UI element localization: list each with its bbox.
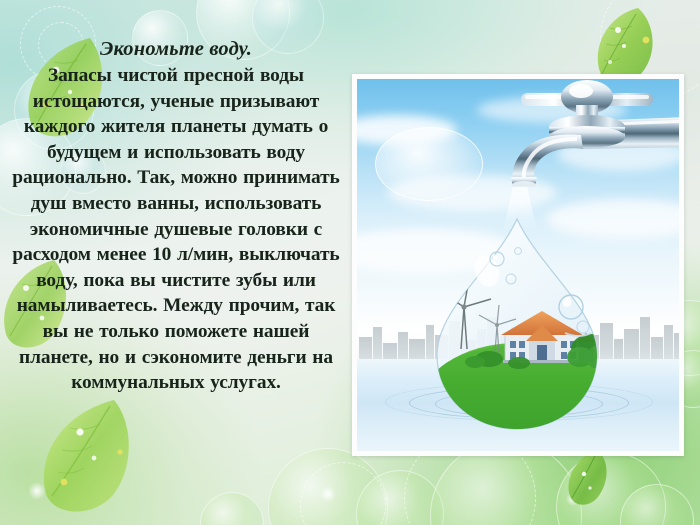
slide-body-text: Запасы чистой пресной воды истощаются, у…: [6, 63, 346, 396]
sparkle: [28, 482, 46, 500]
water-droplet-icon: [417, 215, 617, 435]
text-column: Экономьте воду. Запасы чистой пресной во…: [6, 36, 346, 396]
bokeh-bubble: [556, 452, 666, 525]
bokeh-bubble: [356, 470, 444, 525]
sparkle: [320, 486, 336, 502]
bokeh-bubble: [200, 492, 264, 525]
bokeh-ring: [300, 462, 386, 525]
photo-image: [357, 79, 679, 451]
leaf-bottom-right-icon: [564, 448, 612, 510]
sparkle: [566, 492, 580, 506]
leaf-bottom-left-icon: [34, 396, 138, 518]
sky-bubble: [375, 127, 483, 201]
faucet-icon: [485, 79, 679, 187]
bokeh-bubble: [268, 448, 388, 525]
bokeh-bubble: [620, 484, 694, 525]
slide-canvas: Экономьте воду. Запасы чистой пресной во…: [0, 0, 700, 525]
slide-title: Экономьте воду.: [6, 36, 346, 62]
photo-frame: [352, 74, 684, 456]
